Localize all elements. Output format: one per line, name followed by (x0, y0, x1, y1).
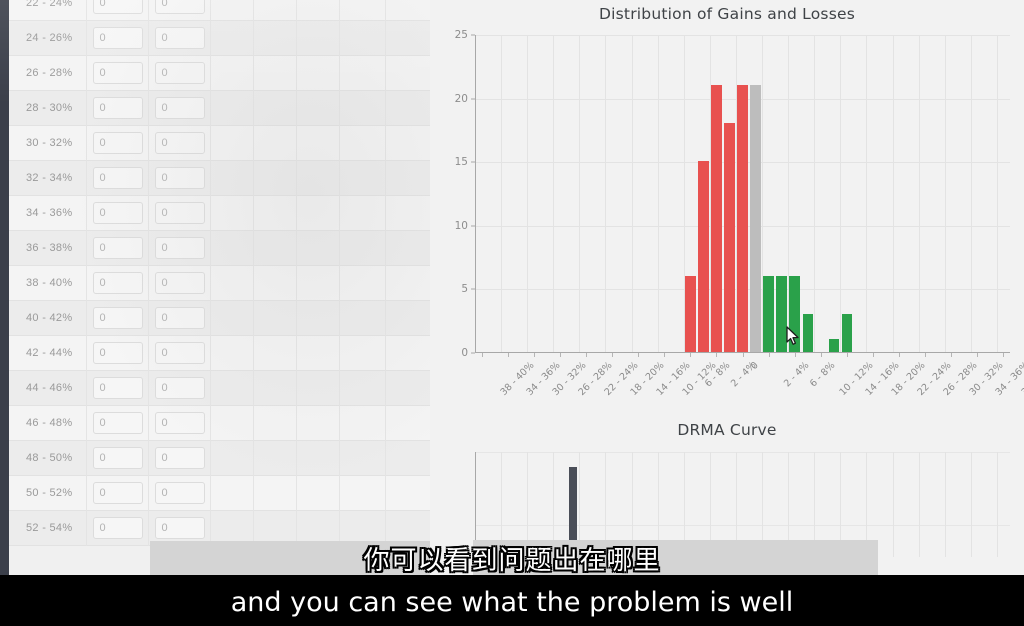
row-empty-cell[interactable] (211, 406, 254, 441)
row-range-label: 48 - 50% (9, 441, 87, 476)
subtitle-chinese: 你可以看到问题出在哪里 (0, 540, 1024, 577)
x-axis-tick-mark (690, 353, 691, 357)
x-axis-tick-mark (925, 353, 926, 357)
row-empty-cell[interactable] (254, 231, 297, 266)
row-value-cell[interactable]: 0 (149, 196, 211, 231)
gridline-vertical (814, 35, 815, 353)
x-axis-tick-mark (899, 353, 900, 357)
value-input[interactable]: 0 (155, 237, 205, 259)
row-value-cell[interactable]: 0 (87, 441, 149, 476)
gridline-vertical (632, 35, 633, 353)
gridline-horizontal (475, 452, 1010, 453)
table-row[interactable]: 26 - 28%00 (9, 56, 430, 91)
row-empty-cell[interactable] (340, 476, 386, 511)
value-input[interactable]: 0 (155, 412, 205, 434)
value-input[interactable]: 0 (93, 97, 143, 119)
row-empty-cell[interactable] (297, 441, 340, 476)
value-input[interactable]: 0 (93, 307, 143, 329)
row-value-cell[interactable]: 0 (87, 196, 149, 231)
row-range-label: 28 - 30% (9, 91, 87, 126)
row-empty-cell[interactable] (211, 21, 254, 56)
row-empty-cell[interactable] (297, 231, 340, 266)
row-value-cell[interactable]: 0 (149, 336, 211, 371)
distribution-chart-title: Distribution of Gains and Losses (430, 5, 1024, 23)
row-value-cell[interactable]: 0 (87, 161, 149, 196)
row-empty-cell[interactable] (211, 126, 254, 161)
row-value-cell[interactable]: 0 (87, 126, 149, 161)
row-empty-cell[interactable] (340, 21, 386, 56)
x-axis-tick-mark (847, 353, 848, 357)
row-empty-cell[interactable] (254, 266, 297, 301)
table-row[interactable]: 24 - 26%00 (9, 21, 430, 56)
gridline-vertical (866, 35, 867, 353)
row-empty-cell[interactable] (297, 161, 340, 196)
row-value-cell[interactable]: 0 (149, 21, 211, 56)
x-axis-tick-mark (586, 353, 587, 357)
value-input[interactable]: 0 (93, 202, 143, 224)
x-axis-tick-mark (769, 353, 770, 357)
row-range-label: 40 - 42% (9, 301, 87, 336)
table-row[interactable]: 34 - 36%00 (9, 196, 430, 231)
row-empty-cell[interactable] (340, 0, 386, 21)
row-empty-cell[interactable] (340, 56, 386, 91)
row-value-cell[interactable]: 0 (149, 231, 211, 266)
table-row[interactable]: 32 - 34%00 (9, 161, 430, 196)
value-input[interactable]: 0 (155, 202, 205, 224)
x-axis-tick-mark (482, 353, 483, 357)
gridline-vertical (945, 35, 946, 353)
x-axis-tick-mark (873, 353, 874, 357)
row-value-cell[interactable]: 0 (87, 91, 149, 126)
row-empty-cell[interactable] (340, 161, 386, 196)
row-empty-cell[interactable] (211, 91, 254, 126)
row-value-cell[interactable]: 0 (87, 231, 149, 266)
gridline-vertical (553, 35, 554, 353)
chart-bar[interactable] (803, 314, 813, 352)
row-empty-cell[interactable] (211, 301, 254, 336)
row-empty-cell[interactable] (211, 196, 254, 231)
x-axis-tick-mark (716, 353, 717, 357)
x-axis-tick-mark (1003, 353, 1004, 357)
row-empty-cell[interactable] (254, 91, 297, 126)
row-empty-cell[interactable] (297, 21, 340, 56)
row-empty-cell[interactable] (254, 21, 297, 56)
row-range-label: 36 - 38% (9, 231, 87, 266)
value-input[interactable]: 0 (155, 27, 205, 49)
row-empty-cell[interactable] (211, 476, 254, 511)
row-value-cell[interactable]: 0 (87, 301, 149, 336)
value-input[interactable]: 0 (93, 447, 143, 469)
row-empty-cell[interactable] (297, 301, 340, 336)
table-row[interactable]: 46 - 48%00 (9, 406, 430, 441)
row-value-cell[interactable]: 0 (87, 371, 149, 406)
row-empty-cell[interactable] (297, 126, 340, 161)
value-input[interactable]: 0 (155, 342, 205, 364)
row-empty-cell[interactable] (211, 56, 254, 91)
value-input[interactable]: 0 (93, 237, 143, 259)
gridline-horizontal (475, 525, 1010, 526)
row-empty-cell[interactable] (340, 91, 386, 126)
x-axis-tick-mark (664, 353, 665, 357)
row-empty-cell[interactable] (340, 266, 386, 301)
row-empty-cell[interactable] (254, 476, 297, 511)
row-empty-cell[interactable] (254, 371, 297, 406)
window-left-rail (0, 0, 9, 575)
distribution-chart-plot[interactable]: 051015202538 - 40%34 - 36%30 - 32%26 - 2… (475, 35, 1010, 353)
row-empty-cell[interactable] (297, 91, 340, 126)
row-empty-cell[interactable] (211, 0, 254, 21)
row-range-label: 42 - 44% (9, 336, 87, 371)
gridline-vertical (893, 35, 894, 353)
table-row[interactable]: 48 - 50%00 (9, 441, 430, 476)
x-axis-tick-label: 6 - 8% (808, 360, 837, 389)
screenshot-root: 22 - 24%0024 - 26%0026 - 28%0028 - 30%00… (0, 0, 1024, 626)
value-input[interactable]: 0 (155, 272, 205, 294)
row-empty-cell[interactable] (211, 441, 254, 476)
chart-bar[interactable] (776, 276, 786, 352)
row-value-cell[interactable]: 0 (87, 336, 149, 371)
row-empty-cell[interactable] (340, 406, 386, 441)
row-value-cell[interactable]: 0 (87, 21, 149, 56)
value-input[interactable]: 0 (155, 97, 205, 119)
row-empty-cell[interactable] (340, 126, 386, 161)
left-table-panel: 22 - 24%0024 - 26%0026 - 28%0028 - 30%00… (0, 0, 430, 575)
value-input[interactable]: 0 (155, 482, 205, 504)
value-input[interactable]: 0 (93, 272, 143, 294)
row-empty-cell[interactable] (254, 196, 297, 231)
value-input[interactable]: 0 (155, 167, 205, 189)
row-range-label: 30 - 32% (9, 126, 87, 161)
row-empty-cell[interactable] (297, 476, 340, 511)
gridline-vertical (997, 35, 998, 353)
table-row[interactable]: 44 - 46%00 (9, 371, 430, 406)
gridline-horizontal (475, 35, 1010, 36)
gridline-vertical (501, 35, 502, 353)
chart-bar[interactable] (750, 85, 760, 352)
gridline-vertical (527, 35, 528, 353)
table-row[interactable]: 42 - 44%00 (9, 336, 430, 371)
table-row[interactable]: 50 - 52%00 (9, 476, 430, 511)
row-empty-cell[interactable] (254, 126, 297, 161)
table-row[interactable]: 28 - 30%00 (9, 91, 430, 126)
y-axis-tick-label: 15 (455, 156, 468, 168)
y-axis-tick-label: 5 (461, 283, 468, 295)
gridline-vertical (971, 35, 972, 353)
row-value-cell[interactable]: 0 (149, 406, 211, 441)
x-axis-tick-mark (508, 353, 509, 357)
value-input[interactable]: 0 (155, 377, 205, 399)
x-axis-tick-mark (638, 353, 639, 357)
row-value-cell[interactable]: 0 (87, 0, 149, 21)
row-range-label: 24 - 26% (9, 21, 87, 56)
x-axis-tick-mark (977, 353, 978, 357)
x-axis-tick-label: 2 - 4% (782, 360, 811, 389)
chart-bar[interactable] (737, 85, 747, 352)
row-value-cell[interactable]: 0 (149, 301, 211, 336)
gridline-vertical (579, 35, 580, 353)
chart-bar[interactable] (842, 314, 852, 352)
table-row[interactable]: 38 - 40%00 (9, 266, 430, 301)
gridline-vertical (840, 35, 841, 353)
x-axis-tick-mark (534, 353, 535, 357)
row-value-cell[interactable]: 0 (149, 126, 211, 161)
row-empty-cell[interactable] (340, 441, 386, 476)
y-axis-line (475, 35, 476, 353)
row-range-label: 22 - 24% (9, 0, 87, 21)
x-axis-tick-mark (951, 353, 952, 357)
value-input[interactable]: 0 (155, 132, 205, 154)
value-input[interactable]: 0 (93, 412, 143, 434)
chart-bar[interactable] (685, 276, 695, 352)
row-value-cell[interactable]: 0 (149, 441, 211, 476)
distribution-input-table[interactable]: 22 - 24%0024 - 26%0026 - 28%0028 - 30%00… (9, 0, 430, 546)
row-value-cell[interactable]: 0 (87, 266, 149, 301)
row-value-cell[interactable]: 0 (149, 161, 211, 196)
row-empty-cell[interactable] (340, 196, 386, 231)
table-row[interactable]: 40 - 42%00 (9, 301, 430, 336)
row-empty-cell[interactable] (297, 0, 340, 21)
row-empty-cell[interactable] (211, 161, 254, 196)
gridline-vertical (658, 35, 659, 353)
row-empty-cell[interactable] (340, 301, 386, 336)
row-empty-cell[interactable] (254, 0, 297, 21)
value-input[interactable]: 0 (155, 0, 205, 14)
row-value-cell[interactable]: 0 (149, 266, 211, 301)
value-input[interactable]: 0 (93, 27, 143, 49)
row-value-cell[interactable]: 0 (149, 476, 211, 511)
value-input[interactable]: 0 (93, 482, 143, 504)
x-axis-tick-mark (821, 353, 822, 357)
row-empty-cell[interactable] (297, 336, 340, 371)
chart-bar[interactable] (698, 161, 708, 352)
chart-bar[interactable] (763, 276, 773, 352)
row-empty-cell[interactable] (254, 161, 297, 196)
chart-bar[interactable] (789, 276, 799, 352)
row-value-cell[interactable]: 0 (87, 476, 149, 511)
drma-chart-title: DRMA Curve (430, 421, 1024, 439)
row-value-cell[interactable]: 0 (87, 56, 149, 91)
subtitle-english: and you can see what the problem is well (0, 587, 1024, 618)
row-empty-cell[interactable] (211, 231, 254, 266)
y-axis-tick-label: 10 (455, 220, 468, 232)
row-range-label: 46 - 48% (9, 406, 87, 441)
row-value-cell[interactable]: 0 (149, 371, 211, 406)
row-range-label: 26 - 28% (9, 56, 87, 91)
row-empty-cell[interactable] (297, 371, 340, 406)
x-axis-line (475, 352, 1010, 353)
value-input[interactable]: 0 (155, 447, 205, 469)
row-empty-cell[interactable] (297, 56, 340, 91)
x-axis-tick-mark (612, 353, 613, 357)
gridline-vertical (919, 35, 920, 353)
value-input[interactable]: 0 (93, 62, 143, 84)
chart-bar[interactable] (724, 123, 734, 352)
value-input[interactable]: 0 (155, 517, 205, 539)
value-input[interactable]: 0 (93, 342, 143, 364)
table-row[interactable]: 30 - 32%00 (9, 126, 430, 161)
row-value-cell[interactable]: 0 (149, 91, 211, 126)
chart-bar[interactable] (711, 85, 721, 352)
row-empty-cell[interactable] (211, 371, 254, 406)
row-empty-cell[interactable] (254, 406, 297, 441)
row-range-label: 34 - 36% (9, 196, 87, 231)
value-input[interactable]: 0 (93, 517, 143, 539)
value-input[interactable]: 0 (155, 307, 205, 329)
y-axis-tick-label: 0 (461, 347, 468, 359)
row-empty-cell[interactable] (254, 56, 297, 91)
row-empty-cell[interactable] (340, 231, 386, 266)
table-row[interactable]: 22 - 24%00 (9, 0, 430, 21)
row-value-cell[interactable]: 0 (87, 406, 149, 441)
y-axis-tick-label: 20 (455, 93, 468, 105)
x-axis-tick-mark (743, 353, 744, 357)
gridline-vertical (605, 35, 606, 353)
row-empty-cell[interactable] (254, 441, 297, 476)
table-row[interactable]: 36 - 38%00 (9, 231, 430, 266)
x-axis-tick-mark (795, 353, 796, 357)
y-axis-tick-label: 25 (455, 29, 468, 41)
row-empty-cell[interactable] (340, 371, 386, 406)
row-range-label: 38 - 40% (9, 266, 87, 301)
row-empty-cell[interactable] (340, 336, 386, 371)
row-value-cell[interactable]: 0 (149, 56, 211, 91)
value-input[interactable]: 0 (93, 132, 143, 154)
row-empty-cell[interactable] (297, 406, 340, 441)
row-empty-cell[interactable] (254, 301, 297, 336)
chart-bar[interactable] (829, 339, 839, 352)
value-input[interactable]: 0 (155, 62, 205, 84)
row-range-label: 50 - 52% (9, 476, 87, 511)
x-axis-tick-mark (560, 353, 561, 357)
row-empty-cell[interactable] (211, 266, 254, 301)
value-input[interactable]: 0 (93, 377, 143, 399)
row-empty-cell[interactable] (297, 266, 340, 301)
row-empty-cell[interactable] (211, 336, 254, 371)
row-empty-cell[interactable] (297, 196, 340, 231)
row-range-label: 32 - 34% (9, 161, 87, 196)
row-value-cell[interactable]: 0 (149, 0, 211, 21)
charts-panel: Distribution of Gains and Losses 0510152… (430, 0, 1024, 575)
value-input[interactable]: 0 (93, 167, 143, 189)
row-range-label: 44 - 46% (9, 371, 87, 406)
row-empty-cell[interactable] (254, 336, 297, 371)
value-input[interactable]: 0 (93, 0, 143, 14)
